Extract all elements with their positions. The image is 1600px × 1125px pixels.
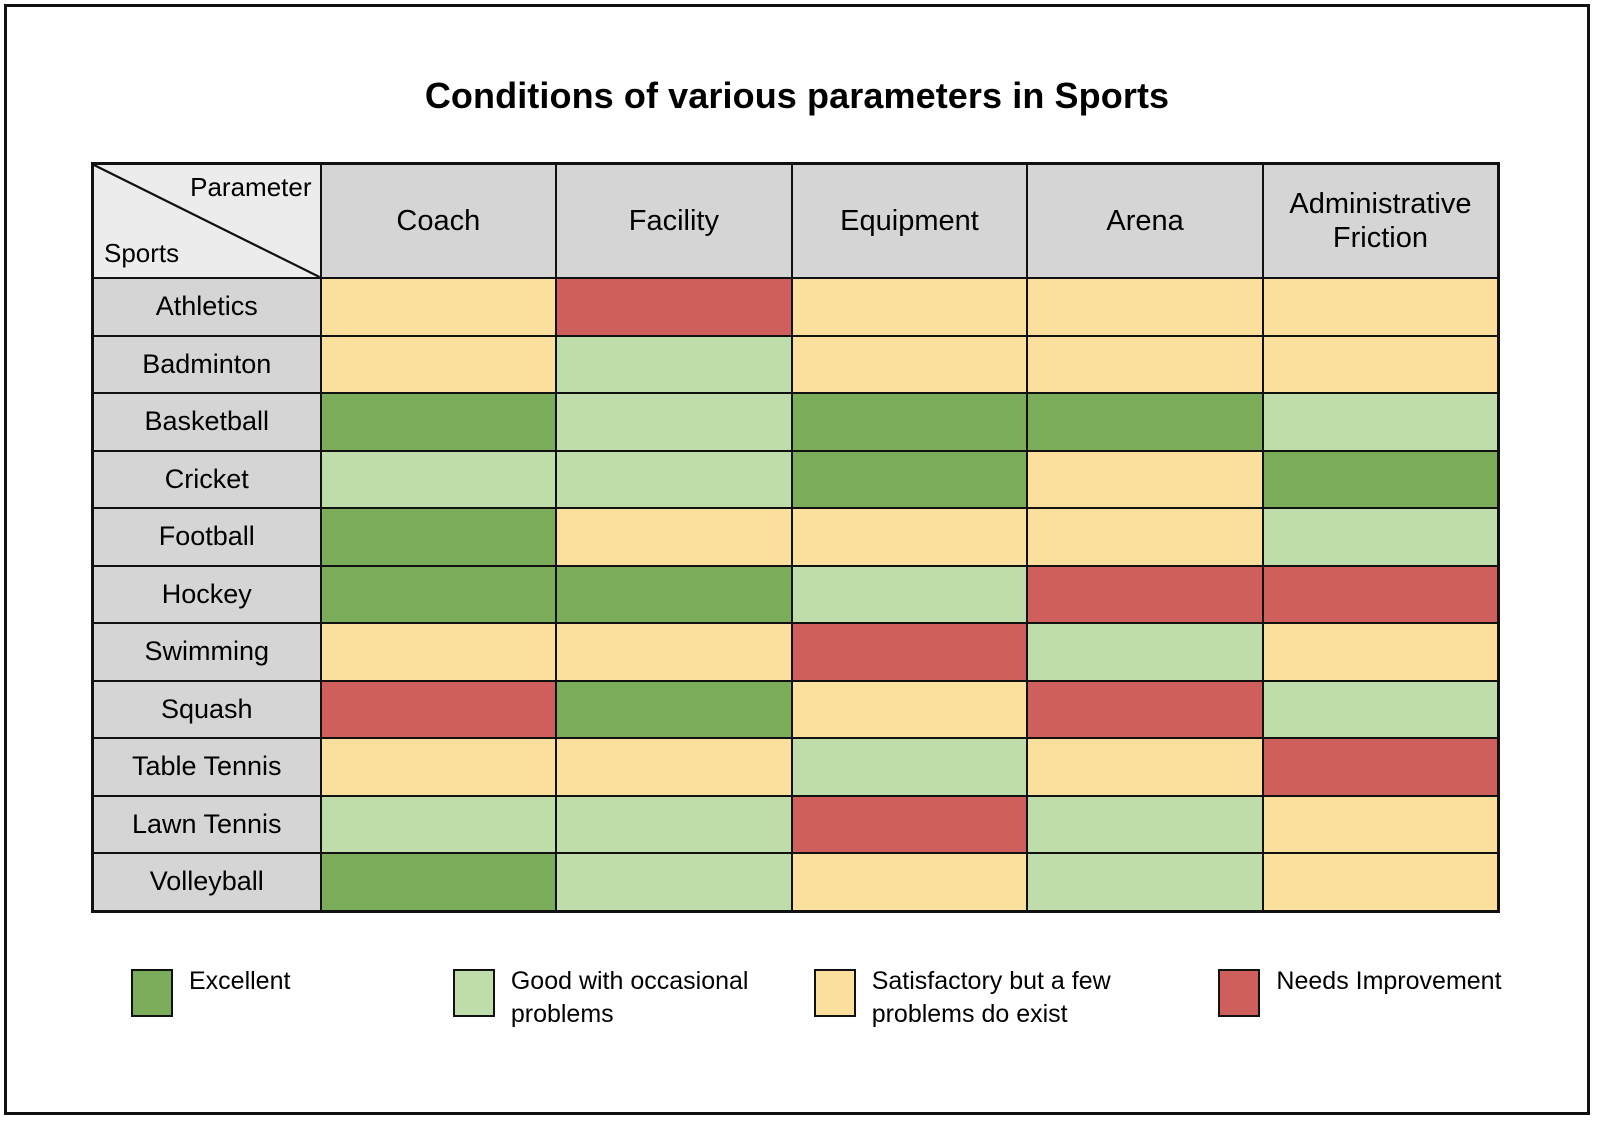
matrix-cell [556, 278, 792, 336]
legend-swatch-icon [131, 969, 173, 1017]
matrix-cell [556, 681, 792, 739]
matrix-cell [321, 393, 557, 451]
matrix-cell [1027, 278, 1263, 336]
matrix-cell [1027, 681, 1263, 739]
legend-item-needs-improvement: Needs Improvement [1218, 965, 1511, 1017]
matrix-cell [1263, 623, 1499, 681]
row-header-basketball: Basketball [93, 393, 321, 451]
page-canvas: Conditions of various parameters in Spor… [4, 4, 1590, 1115]
matrix-cell [321, 796, 557, 854]
matrix-cell [556, 336, 792, 394]
matrix-cell [1263, 853, 1499, 911]
matrix-row: Volleyball [93, 853, 1499, 911]
matrix-cell [556, 566, 792, 624]
legend-swatch-icon [1218, 969, 1260, 1017]
matrix-row: Squash [93, 681, 1499, 739]
matrix-cell [556, 623, 792, 681]
matrix-cell [556, 738, 792, 796]
matrix-cell [321, 451, 557, 509]
matrix-cell [556, 853, 792, 911]
legend-label: Good with occasional problems [511, 965, 786, 1031]
legend-item-satisfactory: Satisfactory but a few problems do exist [814, 965, 1219, 1031]
matrix-cell [792, 566, 1028, 624]
matrix-cell [792, 623, 1028, 681]
matrix-cell [792, 508, 1028, 566]
row-header-swimming: Swimming [93, 623, 321, 681]
legend-label: Satisfactory but a few problems do exist [872, 965, 1147, 1031]
column-header-coach: Coach [321, 164, 557, 279]
row-header-table-tennis: Table Tennis [93, 738, 321, 796]
matrix-cell [792, 681, 1028, 739]
matrix-cell [556, 796, 792, 854]
matrix-cell [1027, 796, 1263, 854]
matrix-cell [321, 623, 557, 681]
matrix-row: Lawn Tennis [93, 796, 1499, 854]
matrix-cell [792, 451, 1028, 509]
matrix-cell [556, 508, 792, 566]
legend-item-good: Good with occasional problems [453, 965, 814, 1031]
matrix-row: Football [93, 508, 1499, 566]
column-axis-label: Parameter [190, 172, 311, 203]
legend-item-excellent: Excellent [91, 965, 453, 1017]
column-header-equipment: Equipment [792, 164, 1028, 279]
matrix-cell [1027, 451, 1263, 509]
row-header-squash: Squash [93, 681, 321, 739]
matrix-cell [792, 853, 1028, 911]
matrix-cell [1027, 566, 1263, 624]
matrix-cell [792, 336, 1028, 394]
matrix-cell [1263, 393, 1499, 451]
matrix-cell [1027, 336, 1263, 394]
matrix-cell [1263, 451, 1499, 509]
row-header-cricket: Cricket [93, 451, 321, 509]
matrix-cell [321, 278, 557, 336]
row-header-football: Football [93, 508, 321, 566]
header-row: Parameter Sports Coach Facility Equipmen… [93, 164, 1499, 279]
matrix-cell [556, 393, 792, 451]
legend-swatch-icon [814, 969, 856, 1017]
row-header-hockey: Hockey [93, 566, 321, 624]
column-header-facility: Facility [556, 164, 792, 279]
matrix-cell [792, 278, 1028, 336]
matrix-cell [792, 796, 1028, 854]
matrix-body: AthleticsBadmintonBasketballCricketFootb… [93, 278, 1499, 911]
matrix-cell [321, 508, 557, 566]
matrix-cell [556, 451, 792, 509]
row-header-athletics: Athletics [93, 278, 321, 336]
matrix-cell [1263, 796, 1499, 854]
row-header-volleyball: Volleyball [93, 853, 321, 911]
legend: ExcellentGood with occasional problemsSa… [91, 965, 1511, 1031]
conditions-matrix: Parameter Sports Coach Facility Equipmen… [91, 162, 1500, 913]
matrix-row: Table Tennis [93, 738, 1499, 796]
matrix-cell [1263, 738, 1499, 796]
matrix-row: Athletics [93, 278, 1499, 336]
column-header-arena: Arena [1027, 164, 1263, 279]
page-title: Conditions of various parameters in Spor… [7, 75, 1587, 117]
matrix-row: Swimming [93, 623, 1499, 681]
matrix-cell [792, 393, 1028, 451]
legend-swatch-icon [453, 969, 495, 1017]
matrix-cell [1263, 278, 1499, 336]
matrix-cell [321, 681, 557, 739]
matrix-row: Cricket [93, 451, 1499, 509]
matrix-header: Parameter Sports Coach Facility Equipmen… [93, 164, 1499, 279]
matrix-cell [1027, 393, 1263, 451]
matrix-cell [321, 566, 557, 624]
matrix-row: Hockey [93, 566, 1499, 624]
legend-label: Excellent [189, 965, 290, 998]
matrix-cell [321, 738, 557, 796]
matrix-row: Basketball [93, 393, 1499, 451]
matrix-cell [1263, 508, 1499, 566]
matrix-cell [1027, 853, 1263, 911]
legend-label: Needs Improvement [1276, 965, 1501, 998]
matrix-cell [792, 738, 1028, 796]
matrix-cell [1027, 623, 1263, 681]
matrix-cell [1027, 738, 1263, 796]
corner-axis-cell: Parameter Sports [93, 164, 321, 279]
matrix-cell [321, 853, 557, 911]
column-header-administrative-friction: Administrative Friction [1263, 164, 1499, 279]
matrix-cell [1027, 508, 1263, 566]
matrix-cell [1263, 681, 1499, 739]
row-axis-label: Sports [104, 238, 179, 269]
matrix-row: Badminton [93, 336, 1499, 394]
row-header-lawn-tennis: Lawn Tennis [93, 796, 321, 854]
matrix-cell [321, 336, 557, 394]
matrix-container: Parameter Sports Coach Facility Equipmen… [91, 162, 1497, 913]
matrix-cell [1263, 566, 1499, 624]
matrix-cell [1263, 336, 1499, 394]
row-header-badminton: Badminton [93, 336, 321, 394]
